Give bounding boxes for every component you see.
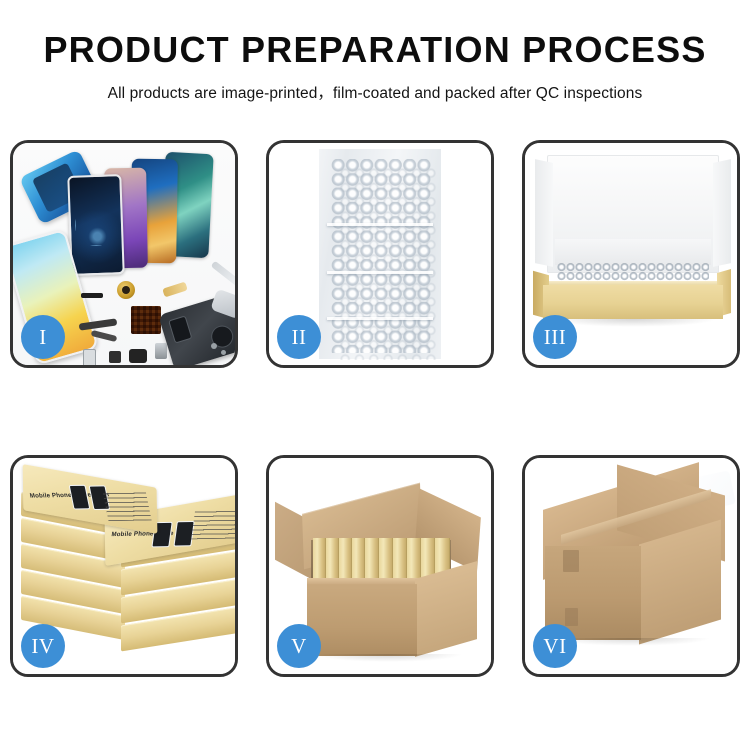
wrap-seal-line-2-graphic [327, 271, 433, 274]
page-title: PRODUCT PREPARATION PROCESS [0, 28, 750, 72]
antenna-part-graphic [81, 293, 103, 298]
box-spec-lines-graphic [102, 490, 151, 521]
inner-box-front-graphic [543, 285, 723, 319]
step-panel-4: Mobile Phone Spare Parts Mobile Phone Sp… [10, 455, 238, 677]
wrap-seal-line-graphic [327, 223, 433, 226]
flex-cable-part-graphic [162, 282, 188, 298]
step-panel-3: III [522, 140, 740, 368]
step-badge-1: I [21, 315, 65, 359]
screwdriver-tool-graphic [211, 261, 235, 289]
infographic-page: PRODUCT PREPARATION PROCESS All products… [0, 0, 750, 750]
chip-grid-part-graphic [131, 306, 161, 334]
page-subtitle: All products are image-printed，film-coat… [0, 81, 750, 103]
foam-sheet-graphic [555, 239, 711, 265]
box-spec-lines-graphic [191, 508, 235, 539]
bubble-pattern-back-graphic [338, 166, 438, 360]
step-badge-2: II [277, 315, 321, 359]
bubble-wrap-sleeve-graphic [319, 149, 441, 359]
button-part-graphic [109, 351, 121, 363]
camera-ring-part-graphic [117, 281, 135, 299]
step-badge-6: VI [533, 624, 577, 668]
wrap-seal-line-3-graphic [327, 317, 433, 320]
step-panel-6: VI [522, 455, 740, 677]
step-badge-4: IV [21, 624, 65, 668]
carton-shadow-graphic [313, 654, 463, 662]
screw-2-part-graphic [221, 350, 226, 355]
carton-front-graphic [307, 584, 417, 656]
speaker-part-graphic [129, 349, 147, 363]
step-panel-5: V [266, 455, 494, 677]
screw-part-graphic [211, 343, 217, 349]
phone-screen-front-glass-graphic [67, 174, 124, 276]
sim-tray-part-graphic [83, 349, 96, 365]
carton-side-graphic [415, 561, 477, 657]
process-steps-grid: I II [0, 137, 750, 697]
battery-part-graphic [155, 343, 167, 359]
box-screen-thumbnail-icon [69, 485, 91, 510]
step-panel-1: I [10, 140, 238, 368]
step-badge-5: V [277, 624, 321, 668]
step-panel-2: II [266, 140, 494, 368]
carton-seam-graphic [563, 550, 579, 572]
step-badge-3: III [533, 315, 577, 359]
header: PRODUCT PREPARATION PROCESS All products… [0, 28, 750, 103]
carton-seam-2-graphic [565, 608, 578, 626]
